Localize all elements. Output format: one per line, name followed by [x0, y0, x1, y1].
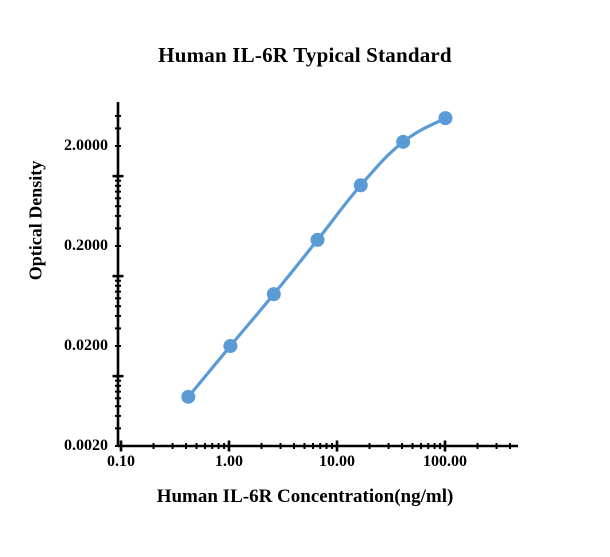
data-point-marker — [354, 178, 368, 192]
series-line — [188, 118, 445, 397]
series-markers — [181, 111, 452, 404]
data-point-marker — [438, 111, 452, 125]
data-point-marker — [223, 339, 237, 353]
axis-lines — [118, 102, 518, 446]
plot-area — [0, 0, 610, 557]
chart-container: Human IL-6R Typical Standard Optical Den… — [0, 0, 610, 557]
data-point-marker — [181, 390, 195, 404]
data-point-marker — [396, 135, 410, 149]
data-point-marker — [311, 233, 325, 247]
data-point-marker — [267, 287, 281, 301]
